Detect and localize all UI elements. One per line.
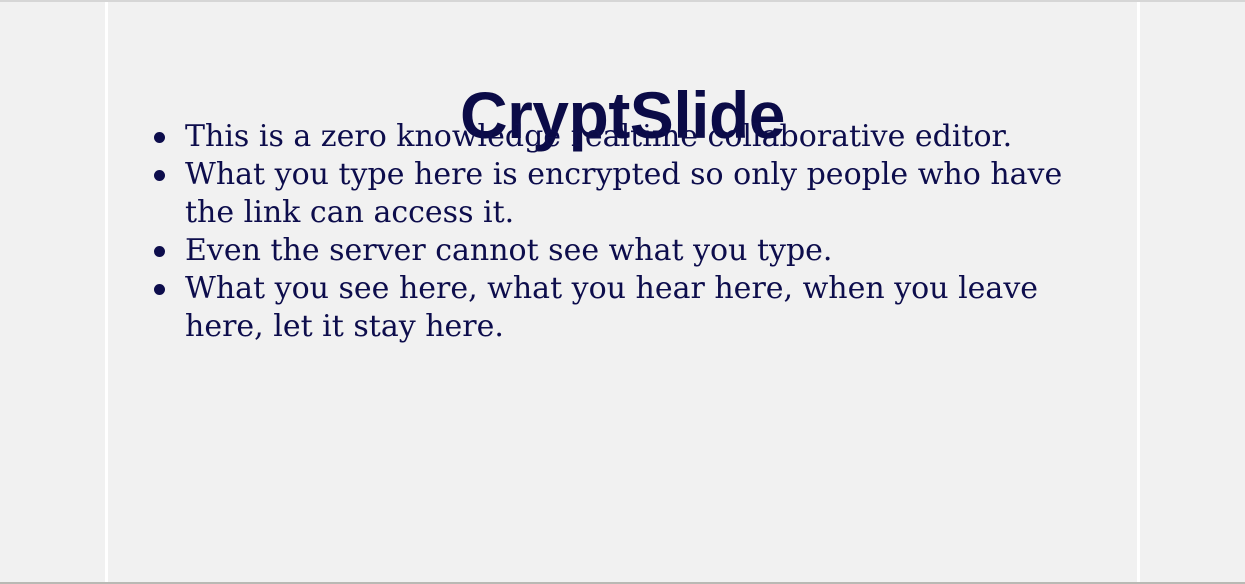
bullet-text[interactable]: What you see here, what you hear here, w… <box>185 270 1095 346</box>
bullet-text[interactable]: Even the server cannot see what you type… <box>185 232 1095 270</box>
list-item[interactable]: Even the server cannot see what you type… <box>148 232 1095 270</box>
slide-gutter-right <box>1143 2 1245 582</box>
slide-bullet-list[interactable]: This is a zero knowledge realtime collab… <box>148 118 1117 346</box>
disc-bullet-icon <box>154 284 165 295</box>
list-item[interactable]: What you see here, what you hear here, w… <box>148 270 1095 346</box>
list-item[interactable]: What you type here is encrypted so only … <box>148 156 1095 232</box>
slide-canvas: CryptSlide This is a zero knowledge real… <box>0 0 1245 584</box>
disc-bullet-icon <box>154 132 165 143</box>
list-item[interactable]: This is a zero knowledge realtime collab… <box>148 118 1095 156</box>
bullet-text[interactable]: What you type here is encrypted so only … <box>185 156 1095 232</box>
disc-bullet-icon <box>154 246 165 257</box>
bullet-text[interactable]: This is a zero knowledge realtime collab… <box>185 118 1095 156</box>
disc-bullet-icon <box>154 170 165 181</box>
slide-stage[interactable]: CryptSlide This is a zero knowledge real… <box>105 2 1140 582</box>
slide-gutter-left <box>0 2 105 582</box>
